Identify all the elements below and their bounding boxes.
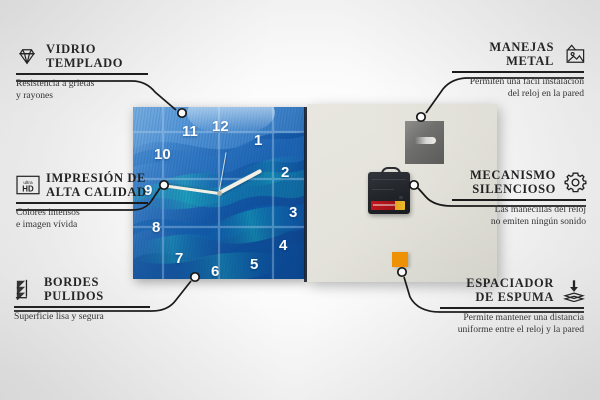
callout-desc-line1: Permite mantener una distancia (463, 312, 584, 323)
callout-title-line2: DE ESPUMA (475, 290, 554, 304)
callout-rule (14, 306, 150, 308)
callout-description: Superficie lisa y segura (14, 311, 150, 324)
callout-desc-line2: del reloj en la pared (508, 88, 584, 99)
foam-spacer-icon (562, 279, 584, 301)
callout-desc-line1: Superficie lisa y segura (14, 311, 104, 322)
callout-manejas-metal: MANEJAS METAL Permiten una fácil instala… (452, 40, 584, 101)
clock-numeral-2: 2 (281, 165, 289, 180)
callout-vidrio-templado: VIDRIO TEMPLADO Resistencia a grietas y … (16, 42, 148, 103)
foam-spacer (392, 252, 408, 267)
callout-title-line2: METAL (506, 54, 554, 68)
clock-front-face: 12 1 2 3 4 5 6 7 8 9 10 11 (133, 107, 305, 279)
clock-numeral-11: 11 (182, 124, 198, 139)
callout-title: MECANISMO SILENCIOSO (470, 168, 556, 196)
clock-numeral-1: 1 (254, 133, 262, 148)
callout-espaciador-espuma: ESPACIADOR DE ESPUMA Permite mantener un… (440, 276, 584, 337)
callout-title-line2: SILENCIOSO (472, 182, 556, 196)
callout-rule (16, 202, 148, 204)
callout-title: MANEJAS METAL (489, 40, 554, 68)
callout-desc-line1: Permiten una fácil instalación (470, 76, 584, 87)
callout-description: Resistencia a grietas y rayones (16, 78, 148, 104)
callout-title: IMPRESIÓN DE ALTA CALIDAD (46, 171, 147, 199)
callout-description: Colores intensos e imagen vívida (16, 207, 148, 233)
callout-title: ESPACIADOR DE ESPUMA (466, 276, 554, 304)
callout-desc-line2: e imagen vívida (16, 219, 77, 230)
callout-mecanismo-silencioso: MECANISMO SILENCIOSO Las manecillas del … (452, 168, 586, 229)
diamond-icon (16, 45, 38, 67)
mechanism-seam-2 (372, 189, 394, 190)
mechanism-seam (372, 179, 406, 180)
callout-bordes-pulidos: BORDES PULIDOS Superficie lisa y segura (14, 275, 150, 323)
polished-edges-icon (14, 278, 36, 300)
callout-desc-line2: uniforme entre el reloj y la pared (458, 324, 584, 335)
callout-title-line1: MANEJAS (489, 40, 554, 54)
clock-numeral-8: 8 (152, 220, 160, 235)
callout-desc-line1: Las manecillas del reloj (495, 204, 586, 215)
callout-title-line1: IMPRESIÓN DE (46, 171, 146, 185)
picture-hanger-icon (562, 43, 584, 65)
callout-impresion-alta-calidad: ultra HD IMPRESIÓN DE ALTA CALIDAD Color… (16, 171, 148, 232)
metal-hanger-plate (405, 121, 444, 164)
clock-numeral-10: 10 (154, 147, 171, 162)
gear-icon (564, 171, 586, 193)
callout-title-line1: VIDRIO (46, 42, 96, 56)
callout-title-line2: PULIDOS (44, 289, 104, 303)
callout-description: Permiten una fácil instalación del reloj… (452, 76, 584, 102)
ultra-hd-icon: ultra HD (16, 174, 38, 196)
callout-title: VIDRIO TEMPLADO (46, 42, 123, 70)
callout-title-line1: MECANISMO (470, 168, 556, 182)
callout-description: Las manecillas del reloj no emiten ningú… (452, 204, 586, 230)
callout-desc-line1: Resistencia a grietas (16, 78, 94, 89)
mechanism-hanging-loop (381, 167, 401, 176)
callout-rule (440, 307, 584, 309)
clock-numeral-5: 5 (250, 257, 258, 272)
quartz-mechanism (368, 172, 410, 214)
callout-desc-line2: y rayones (16, 90, 53, 101)
svg-text:HD: HD (22, 185, 34, 194)
callout-title: BORDES PULIDOS (44, 275, 104, 303)
battery (371, 201, 405, 210)
callout-rule (452, 199, 586, 201)
callout-rule (452, 71, 584, 73)
infographic-canvas: 12 1 2 3 4 5 6 7 8 9 10 11 (0, 0, 600, 400)
mechanism-dot (399, 196, 403, 199)
callout-description: Permite mantener una distancia uniforme … (440, 312, 584, 338)
callout-title-line1: BORDES (44, 275, 99, 289)
clock-numeral-12: 12 (212, 119, 229, 134)
clock-numeral-7: 7 (175, 251, 183, 266)
callout-title-line2: TEMPLADO (46, 56, 123, 70)
clock-center-pin (217, 191, 222, 196)
clock-numeral-3: 3 (289, 205, 297, 220)
callout-desc-line2: no emiten ningún sonido (491, 216, 586, 227)
clock-numeral-4: 4 (279, 238, 287, 253)
hanger-slot (414, 137, 436, 144)
callout-desc-line1: Colores intensos (16, 207, 80, 218)
callout-rule (16, 73, 148, 75)
callout-title-line2: ALTA CALIDAD (46, 185, 147, 199)
callout-title-line1: ESPACIADOR (466, 276, 554, 290)
clock-numeral-6: 6 (211, 264, 219, 279)
